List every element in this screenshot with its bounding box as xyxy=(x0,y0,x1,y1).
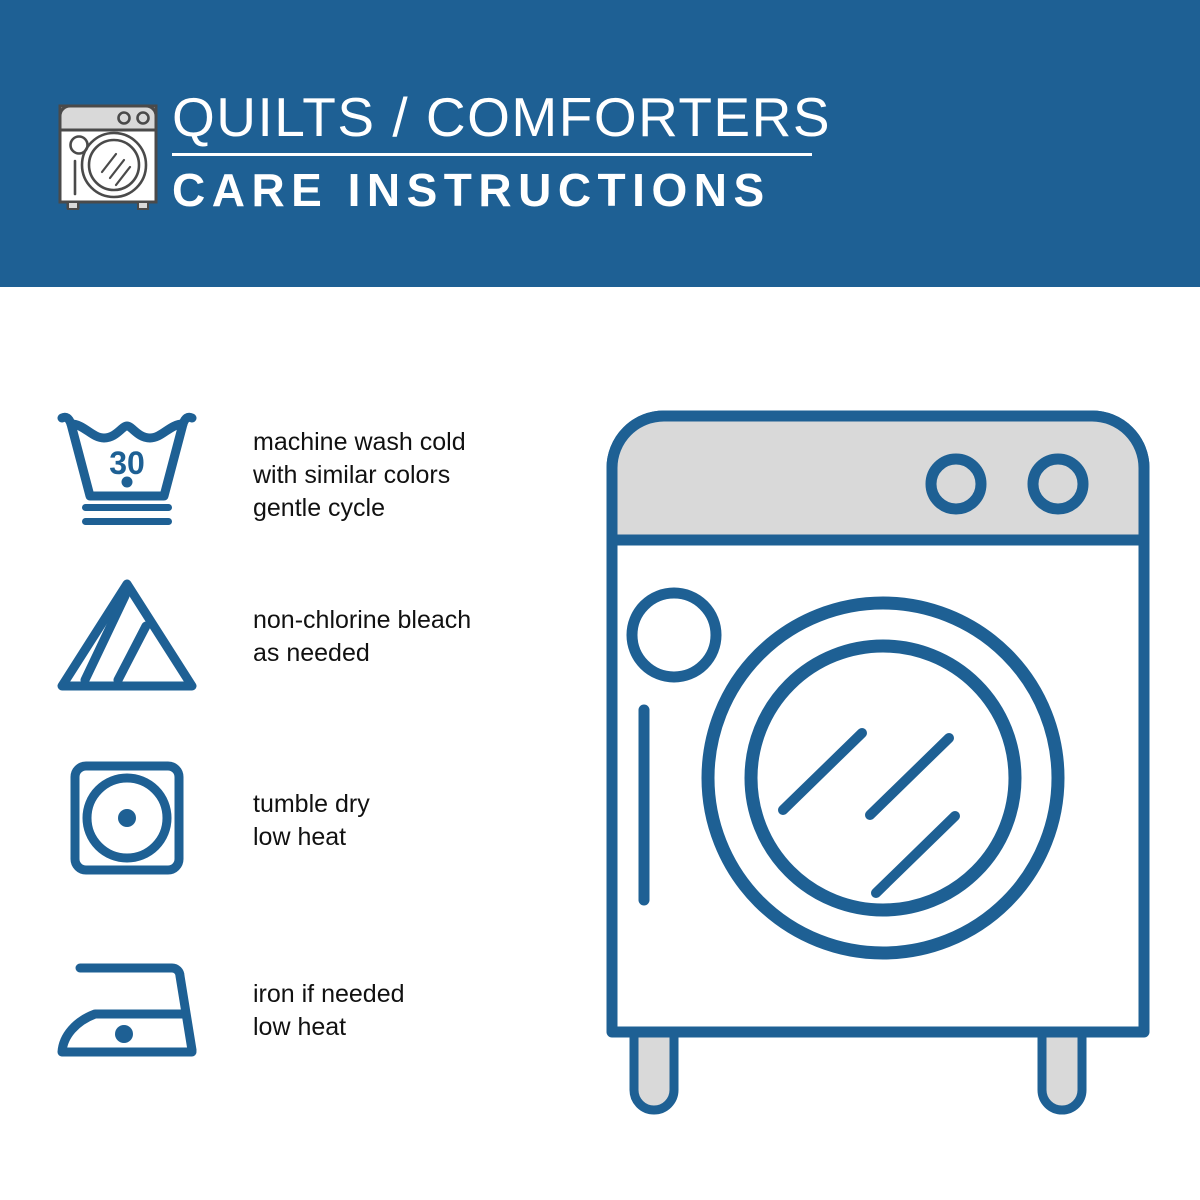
front-load-washing-machine-illustration xyxy=(598,400,1158,1120)
page-subtitle: CARE INSTRUCTIONS xyxy=(172,164,832,216)
care-text-tumble-dry: tumble dry low heat xyxy=(253,788,543,854)
care-text-bleach: non-chlorine bleach as needed xyxy=(253,604,543,670)
washing-machine-icon xyxy=(52,78,164,210)
care-instruction-list: 30 machine wash cold with similar colors… xyxy=(0,404,560,1148)
care-row-bleach: non-chlorine bleach as needed xyxy=(0,590,560,776)
care-row-tumble-dry: tumble dry low heat xyxy=(0,776,560,962)
care-instructions-page: QUILTS / COMFORTERS CARE INSTRUCTIONS 30 xyxy=(0,0,1200,1200)
iron-low-heat-icon xyxy=(52,954,202,1084)
wash-temp-label: 30 xyxy=(109,445,145,481)
page-title: QUILTS / COMFORTERS xyxy=(172,86,832,148)
care-line: as needed xyxy=(253,637,543,670)
care-text-wash: machine wash cold with similar colors ge… xyxy=(253,426,543,525)
care-line: iron if needed xyxy=(253,978,543,1011)
care-line: tumble dry xyxy=(253,788,543,821)
header-titles: QUILTS / COMFORTERS CARE INSTRUCTIONS xyxy=(172,86,832,216)
control-panel xyxy=(612,416,1144,540)
wash-tub-30-gentle-icon: 30 xyxy=(52,404,202,534)
care-line: machine wash cold xyxy=(253,426,543,459)
tumble-dry-low-heat-icon xyxy=(52,758,202,888)
care-text-iron: iron if needed low heat xyxy=(253,978,543,1044)
care-line: with similar colors xyxy=(253,459,543,492)
leg-left xyxy=(634,1028,674,1110)
leg-right xyxy=(1042,1028,1082,1110)
care-line: low heat xyxy=(253,1011,543,1044)
care-row-wash: 30 machine wash cold with similar colors… xyxy=(0,404,560,590)
header-band: QUILTS / COMFORTERS CARE INSTRUCTIONS xyxy=(0,0,1200,287)
care-row-iron: iron if needed low heat xyxy=(0,962,560,1148)
care-line: gentle cycle xyxy=(253,492,543,525)
care-line: low heat xyxy=(253,821,543,854)
title-divider xyxy=(172,153,812,156)
non-chlorine-bleach-triangle-icon xyxy=(52,574,202,704)
care-line: non-chlorine bleach xyxy=(253,604,543,637)
